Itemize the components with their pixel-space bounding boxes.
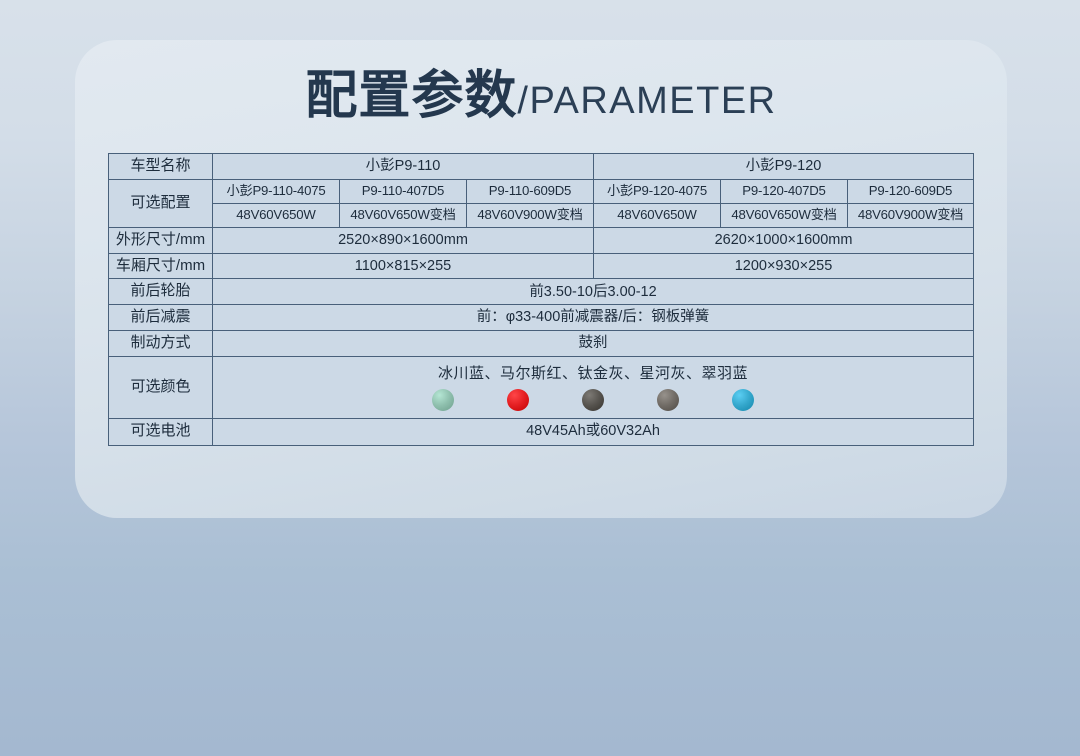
cell-config-spec-6: 48V60V900W变档 [848,203,974,227]
cell-cargo-size-b: 1200×930×255 [594,253,974,279]
page-title-en: /PARAMETER [517,80,776,122]
table-row-brakes: 制动方式 鼓刹 [109,330,974,356]
cell-config-code-5: P9-120-407D5 [721,179,848,203]
cell-config-spec-3: 48V60V900W变档 [467,203,594,227]
cell-tires-value: 前3.50-10后3.00-12 [213,279,974,305]
table-row-colors: 可选颜色 冰川蓝、马尔斯红、钛金灰、星河灰、翠羽蓝 [109,356,974,418]
table-row-cargo-size: 车厢尺寸/mm 1100×815×255 1200×930×255 [109,253,974,279]
cell-brakes-value: 鼓刹 [213,330,974,356]
color-names-line: 冰川蓝、马尔斯红、钛金灰、星河灰、翠羽蓝 [438,365,748,384]
row-label-optional-config: 可选配置 [109,179,213,227]
cell-battery-value: 48V45Ah或60V32Ah [213,418,974,445]
cell-config-code-2: P9-110-407D5 [340,179,467,203]
cell-config-code-1: 小彭P9-110-4075 [213,179,340,203]
table-row-overall-size: 外形尺寸/mm 2520×890×1600mm 2620×1000×1600mm [109,227,974,253]
page-title-cn: 配置参数 [305,67,517,125]
color-swatch-galaxy-grey [657,389,679,411]
row-label-tires: 前后轮胎 [109,279,213,305]
page-title: 配置参数/PARAMETER [75,70,1007,122]
color-swatch-mars-red [507,389,529,411]
table-row-battery: 可选电池 48V45Ah或60V32Ah [109,418,974,445]
table-row-config-specs: 48V60V650W 48V60V650W变档 48V60V900W变档 48V… [109,203,974,227]
row-label-suspension: 前后减震 [109,305,213,331]
table-row-suspension: 前后减震 前：φ33-400前减震器/后：钢板弹簧 [109,305,974,331]
cell-config-code-6: P9-120-609D5 [848,179,974,203]
cell-overall-size-b: 2620×1000×1600mm [594,227,974,253]
color-swatch-list [432,389,754,411]
cell-config-spec-5: 48V60V650W变档 [721,203,848,227]
color-swatch-emerald-blue [732,389,754,411]
row-label-model-name: 车型名称 [109,154,213,180]
cell-cargo-size-a: 1100×815×255 [213,253,594,279]
row-label-overall-size: 外形尺寸/mm [109,227,213,253]
cell-config-spec-2: 48V60V650W变档 [340,203,467,227]
table-row-tires: 前后轮胎 前3.50-10后3.00-12 [109,279,974,305]
row-label-battery: 可选电池 [109,418,213,445]
cell-config-code-4: 小彭P9-120-4075 [594,179,721,203]
row-label-colors: 可选颜色 [109,356,213,418]
row-label-brakes: 制动方式 [109,330,213,356]
row-label-cargo-size: 车厢尺寸/mm [109,253,213,279]
parameter-card: 配置参数/PARAMETER 车型名称 小彭P9-110 小彭P9-120 可选… [75,40,1007,518]
cell-model-a: 小彭P9-110 [213,154,594,180]
color-swatch-titanium-grey [582,389,604,411]
specification-table: 车型名称 小彭P9-110 小彭P9-120 可选配置 小彭P9-110-407… [108,153,974,446]
cell-suspension-value: 前：φ33-400前减震器/后：钢板弹簧 [213,305,974,331]
cell-config-spec-4: 48V60V650W [594,203,721,227]
cell-colors-value: 冰川蓝、马尔斯红、钛金灰、星河灰、翠羽蓝 [213,356,974,418]
cell-overall-size-a: 2520×890×1600mm [213,227,594,253]
color-swatch-glacier-blue [432,389,454,411]
cell-config-code-3: P9-110-609D5 [467,179,594,203]
cell-config-spec-1: 48V60V650W [213,203,340,227]
table-row-config-codes: 可选配置 小彭P9-110-4075 P9-110-407D5 P9-110-6… [109,179,974,203]
table-row-model-name: 车型名称 小彭P9-110 小彭P9-120 [109,154,974,180]
cell-model-b: 小彭P9-120 [594,154,974,180]
